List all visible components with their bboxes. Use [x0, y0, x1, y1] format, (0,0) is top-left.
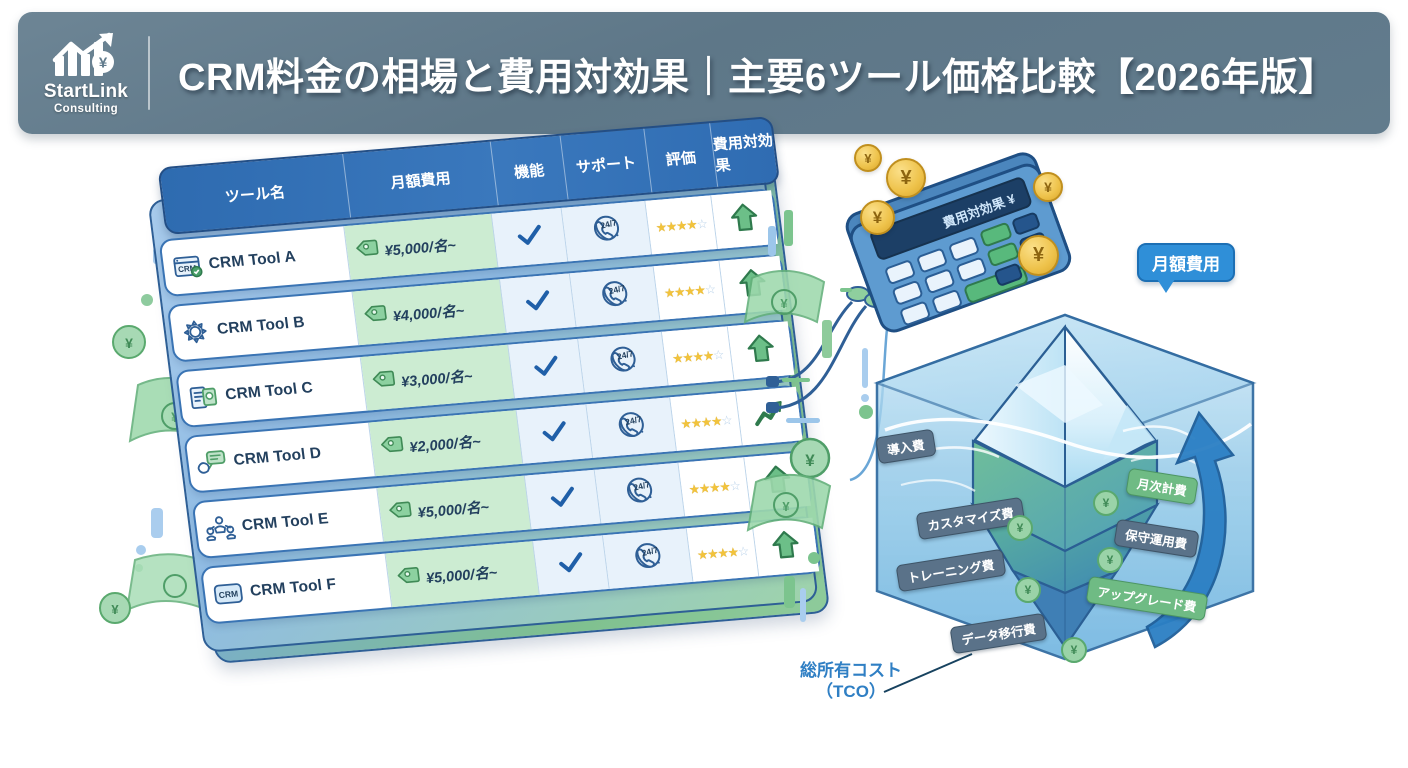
- monthly-cost-bubble: 月額費用: [1137, 243, 1235, 282]
- price-tag-icon: [387, 500, 414, 527]
- column-header-monthly-cost: 月額費用: [343, 142, 499, 218]
- star-empty-icon: ☆: [696, 215, 708, 231]
- gear-icon: [179, 318, 212, 346]
- svg-text:24/7: 24/7: [623, 413, 642, 426]
- yen-coin-icon: ¥: [854, 144, 882, 172]
- support-24-7-icon: 24/7: [629, 540, 667, 578]
- check-icon: [556, 551, 585, 580]
- monthly-price-label: ¥5,000/名~: [425, 561, 499, 588]
- yen-coin-icon: ¥: [1061, 637, 1087, 663]
- price-tag-icon: [379, 434, 406, 461]
- column-header-roi: 費用対効果: [710, 118, 778, 187]
- banner-divider: [148, 36, 150, 110]
- rating-stars: ★★★★☆: [645, 195, 718, 254]
- check-icon: [523, 289, 552, 318]
- logo-block: ¥ StartLink Consulting: [18, 12, 140, 134]
- yen-coin-icon: ¥: [1093, 490, 1119, 516]
- star-empty-icon: ☆: [729, 477, 741, 493]
- tool-name-label: CRM Tool C: [224, 379, 314, 404]
- monthly-price-label: ¥3,000/名~: [400, 364, 474, 391]
- tco-label-line2: （TCO）: [800, 681, 902, 702]
- monthly-price-label: ¥5,000/名~: [416, 495, 490, 522]
- price-tag-icon: [371, 369, 398, 396]
- tco-label-line1: 総所有コスト: [800, 660, 902, 681]
- comparison-table: ツール名 月額費用 機能 サポート 評価 費用対効果 CRM CRM Tool …: [105, 168, 825, 728]
- svg-text:24/7: 24/7: [607, 282, 626, 295]
- tco-label: 総所有コスト （TCO）: [800, 660, 902, 703]
- crm-window-icon: CRM: [170, 252, 203, 280]
- tool-name-label: CRM Tool F: [249, 576, 337, 601]
- star-empty-icon: ☆: [712, 346, 724, 362]
- svg-text:24/7: 24/7: [632, 479, 651, 492]
- price-tag-icon: [395, 565, 422, 592]
- star-empty-icon: ☆: [704, 281, 716, 297]
- tool-name-label: CRM Tool A: [208, 248, 297, 273]
- document-icon: [187, 383, 220, 411]
- chat-handshake-icon: [195, 449, 228, 477]
- monthly-price-label: ¥4,000/名~: [391, 299, 465, 326]
- check-icon: [540, 420, 569, 449]
- svg-text:¥: ¥: [780, 296, 788, 311]
- startlink-logo-icon: ¥: [47, 32, 125, 80]
- column-header-rating: 評価: [644, 123, 718, 192]
- svg-text:24/7: 24/7: [599, 217, 618, 230]
- yen-coin-icon: ¥: [1015, 577, 1041, 603]
- svg-text:CRM: CRM: [218, 589, 239, 601]
- yen-coin-icon: ¥: [1007, 515, 1033, 541]
- price-tag-icon: [362, 303, 389, 330]
- rating-stars: ★★★★☆: [654, 261, 727, 320]
- logo-subtitle: Consulting: [54, 103, 118, 115]
- page-title: CRM料金の相場と費用対効果｜主要6ツール価格比較【2026年版】: [156, 46, 1337, 101]
- logo-name: StartLink: [44, 81, 128, 103]
- yen-coin-icon: ¥: [1097, 547, 1123, 573]
- support-24-7-icon: 24/7: [612, 409, 650, 447]
- tool-name-label: CRM Tool B: [216, 314, 306, 339]
- monthly-price-label: ¥2,000/名~: [408, 430, 482, 457]
- support-24-7-icon: 24/7: [595, 278, 633, 316]
- price-tag-icon: [354, 238, 381, 265]
- yen-coin-icon: ¥: [1033, 172, 1063, 202]
- check-icon: [515, 223, 544, 252]
- yen-coin-icon: ¥: [886, 158, 926, 198]
- check-icon: [531, 354, 560, 383]
- rating-stars: ★★★★☆: [662, 326, 735, 385]
- svg-text:24/7: 24/7: [640, 544, 659, 557]
- crm-badge-icon: CRM: [212, 580, 245, 608]
- rating-stars: ★★★★☆: [670, 392, 743, 451]
- monthly-price-label: ¥5,000/名~: [383, 233, 457, 260]
- support-24-7-icon: 24/7: [604, 343, 642, 381]
- column-header-support: サポート: [561, 129, 653, 200]
- support-24-7-icon: 24/7: [587, 212, 625, 250]
- svg-text:¥: ¥: [805, 451, 815, 470]
- star-empty-icon: ☆: [720, 412, 732, 428]
- infographic-canvas: ¥ StartLink Consulting CRM料金の相場と費用対効果｜主要…: [0, 0, 1408, 768]
- support-24-7-icon: 24/7: [620, 474, 658, 512]
- check-icon: [548, 485, 577, 514]
- svg-text:¥: ¥: [99, 54, 108, 71]
- column-header-features: 機能: [491, 136, 569, 205]
- column-header-tool-name: ツール名: [160, 154, 352, 233]
- header-banner: ¥ StartLink Consulting CRM料金の相場と費用対効果｜主要…: [18, 12, 1390, 134]
- yen-coin-icon: ¥: [860, 200, 895, 235]
- svg-text:24/7: 24/7: [615, 348, 634, 361]
- svg-text:¥: ¥: [782, 499, 790, 514]
- iceberg-tco-illustration: 月額費用 導入費 月次計費 カスタマイズ費 保守運用費 トレーニング費 アップグ…: [855, 255, 1275, 695]
- tool-name-label: CRM Tool E: [241, 510, 330, 535]
- team-icon: [203, 514, 236, 542]
- tool-name-label: CRM Tool D: [233, 445, 323, 470]
